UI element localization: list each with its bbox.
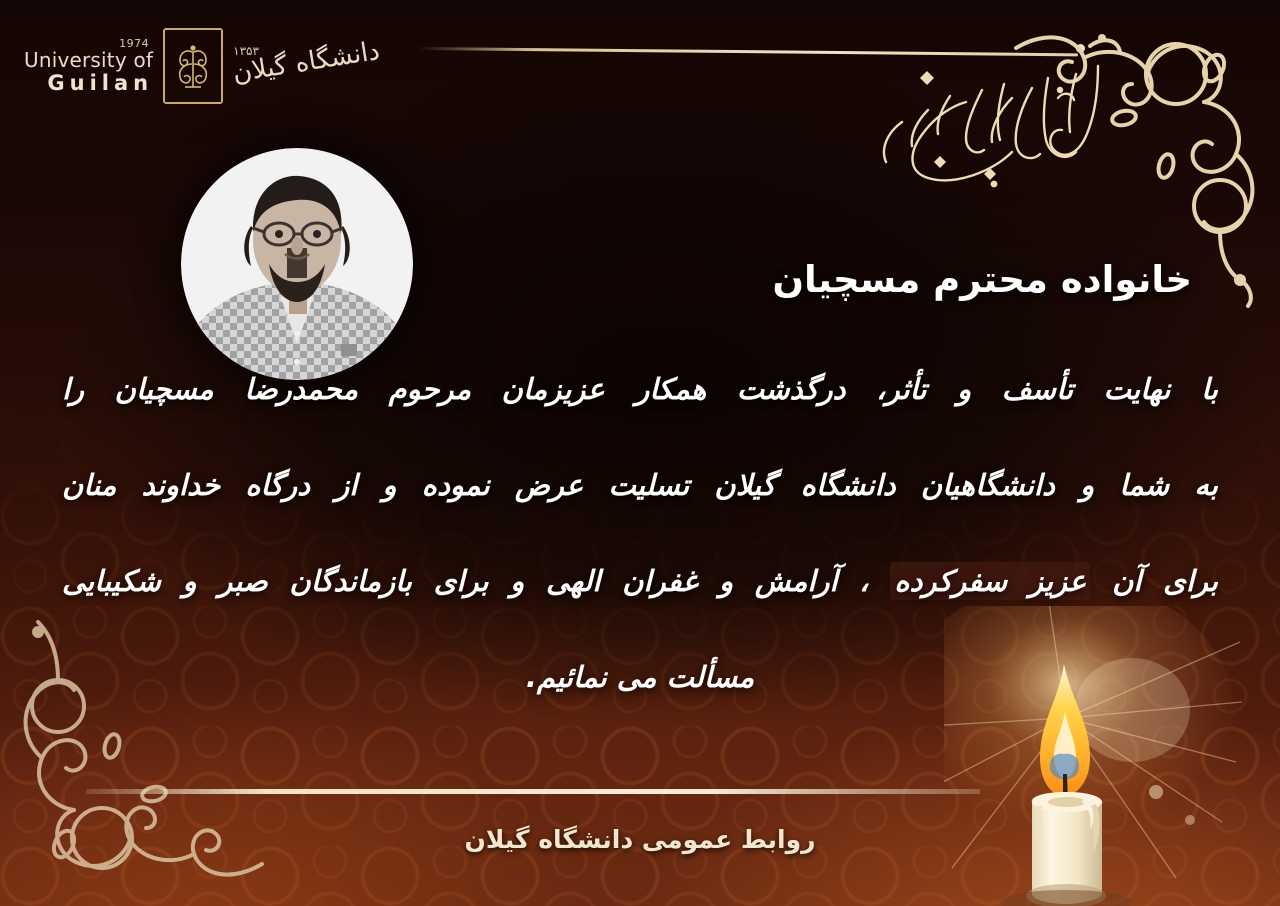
arabesque-ornament-bottom-left-icon xyxy=(2,602,272,902)
deceased-portrait xyxy=(181,148,413,380)
guilan-university-emblem-icon xyxy=(163,28,223,104)
lit-candle-icon xyxy=(944,606,1244,906)
body-line-3: برای آن عزیز سفرکرده ، آرامش و غفران اله… xyxy=(62,564,1218,598)
logo-persian-text: ۱۳۵۳ دانشگاه گیلان xyxy=(233,45,381,87)
body-line-2: به شما و دانشگاهیان دانشگاه گیلان تسلیت … xyxy=(62,468,1218,502)
body-line-1: با نهایت تأسف و تأثر، درگذشت همکار عزیزم… xyxy=(62,372,1218,406)
footer-credit: روابط عمومی دانشگاه گیلان xyxy=(0,825,1280,854)
condolence-poster: 1974 University of Guilan ۱۳۵۳ دانشگاه گ… xyxy=(0,0,1280,906)
page-title: خانواده محترم مسچیان xyxy=(772,258,1192,301)
quran-calligraphy xyxy=(862,44,1112,194)
university-logo: 1974 University of Guilan ۱۳۵۳ دانشگاه گ… xyxy=(24,28,381,104)
highlighted-phrase: عزیز سفرکرده xyxy=(890,562,1090,600)
logo-university-of: University of xyxy=(24,50,153,70)
logo-english-text: 1974 University of Guilan xyxy=(24,38,153,94)
logo-guilan: Guilan xyxy=(47,73,153,94)
footer-gold-rule xyxy=(86,789,980,794)
